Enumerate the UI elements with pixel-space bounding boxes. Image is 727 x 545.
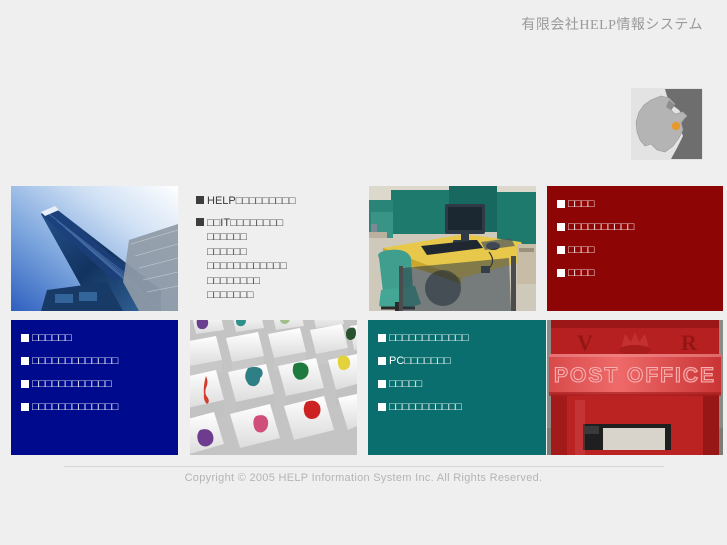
list-item[interactable]: □□□□□□□□□□□□□ (21, 401, 168, 414)
square-bullet-icon (21, 357, 29, 365)
list-item-label: □□□□ (568, 198, 595, 211)
square-bullet-icon (21, 380, 29, 388)
services-panel-blue[interactable]: □□□□□□ □□□□□□□□□□□□□ □□□□□□□□□□□□ □□□□□□… (11, 320, 178, 455)
content-grid: HELP□□□□□□□□□ □□IT□□□□□□□□ □□□□□□ □□□□□□… (11, 186, 723, 311)
svg-text:POST OFFICE: POST OFFICE (554, 364, 716, 387)
intro-line: HELP□□□□□□□□□ (196, 194, 368, 209)
photo-keyboard-keys (190, 320, 357, 455)
square-bullet-icon (196, 196, 204, 204)
services-panel-red[interactable]: □□□□ □□□□□□□□□□ □□□□ □□□□ (547, 186, 723, 311)
list-item[interactable]: □□□□□ (378, 378, 536, 391)
list-item-label: □□□□□□ (32, 332, 72, 345)
list-item-label: □□□□□□□□□□□□ (389, 332, 469, 345)
intro-line: □□□□□□ (196, 230, 368, 245)
site-title: 有限会社HELP情報システム (521, 14, 703, 34)
page-header: 有限会社HELP情報システム (0, 0, 727, 46)
intro-line: □□□□□□□□□□□□ (196, 259, 368, 274)
intro-line-label: □□IT□□□□□□□□ (207, 216, 283, 231)
square-bullet-icon (557, 200, 565, 208)
square-bullet-icon (557, 269, 565, 277)
square-bullet-icon (378, 334, 386, 342)
services-panel-teal[interactable]: □□□□□□□□□□□□ PC□□□□□□□ □□□□□ □□□□□□□□□□□ (368, 320, 546, 455)
list-item-label: □□□□□□□□□□□□ (32, 378, 112, 391)
list-item[interactable]: □□□□□□□□□□□□ (378, 332, 536, 345)
list-item[interactable]: □□□□ (557, 244, 713, 257)
photo-office-cubicle (369, 186, 536, 311)
intro-line-label: □□□□□□□□ (207, 274, 260, 289)
services-list-red: □□□□ □□□□□□□□□□ □□□□ □□□□ (557, 198, 713, 280)
regional-map (631, 88, 703, 160)
footer-copyright: Copyright © 2005 HELP Information System… (0, 472, 727, 484)
intro-line-label: □□□□□□ (207, 245, 247, 260)
list-item[interactable]: □□□□□□□□□□ (557, 221, 713, 234)
footer-divider (64, 466, 664, 467)
list-item[interactable]: □□□□□□□□□□□ (378, 401, 536, 414)
list-item[interactable]: □□□□□□□□□□□□ (21, 378, 168, 391)
intro-line: □□□□□□□ (196, 288, 368, 303)
square-bullet-icon (378, 380, 386, 388)
square-bullet-icon (196, 218, 204, 226)
intro-line-label: HELP□□□□□□□□□ (207, 194, 296, 209)
photo-skyscraper (11, 186, 178, 311)
map-location-marker (672, 122, 680, 130)
content-row-top: HELP□□□□□□□□□ □□IT□□□□□□□□ □□□□□□ □□□□□□… (11, 186, 723, 311)
square-bullet-icon (21, 403, 29, 411)
intro-line-list: HELP□□□□□□□□□ □□IT□□□□□□□□ □□□□□□ □□□□□□… (196, 194, 368, 303)
list-item-label: □□□□□□□□□□□□□ (32, 355, 118, 368)
list-item[interactable]: □□□□□□□□□□□□□ (21, 355, 168, 368)
list-item-label: □□□□ (568, 267, 595, 280)
services-list-blue: □□□□□□ □□□□□□□□□□□□□ □□□□□□□□□□□□ □□□□□□… (21, 332, 168, 414)
square-bullet-icon (557, 246, 565, 254)
intro-line: □□□□□□ (196, 245, 368, 260)
list-item-label: □□□□ (568, 244, 595, 257)
square-bullet-icon (378, 357, 386, 365)
list-item-label: PC□□□□□□□ (389, 355, 451, 368)
square-bullet-icon (557, 223, 565, 231)
list-item-label: □□□□□□□□□□□□□ (32, 401, 118, 414)
svg-text:R: R (681, 330, 698, 355)
square-bullet-icon (21, 334, 29, 342)
svg-text:V: V (577, 330, 593, 355)
list-item[interactable]: PC□□□□□□□ (378, 355, 536, 368)
list-item-label: □□□□□□□□□□□ (389, 401, 462, 414)
intro-text-block: HELP□□□□□□□□□ □□IT□□□□□□□□ □□□□□□ □□□□□□… (190, 186, 368, 311)
intro-line-label: □□□□□□□ (207, 288, 254, 303)
list-item[interactable]: □□□□□□ (21, 332, 168, 345)
photo-post-office-box: V R POST OFFICE (547, 320, 723, 455)
square-bullet-icon (378, 403, 386, 411)
services-list-teal: □□□□□□□□□□□□ PC□□□□□□□ □□□□□ □□□□□□□□□□□ (378, 332, 536, 414)
intro-line-label: □□□□□□ (207, 230, 247, 245)
list-item[interactable]: □□□□ (557, 267, 713, 280)
content-row-bottom: □□□□□□ □□□□□□□□□□□□□ □□□□□□□□□□□□ □□□□□□… (11, 320, 723, 455)
intro-line-label: □□□□□□□□□□□□ (207, 259, 287, 274)
list-item-label: □□□□□□□□□□ (568, 221, 634, 234)
list-item[interactable]: □□□□ (557, 198, 713, 211)
intro-line: □□IT□□□□□□□□ (196, 216, 368, 231)
list-item-label: □□□□□ (389, 378, 422, 391)
intro-line: □□□□□□□□ (196, 274, 368, 289)
